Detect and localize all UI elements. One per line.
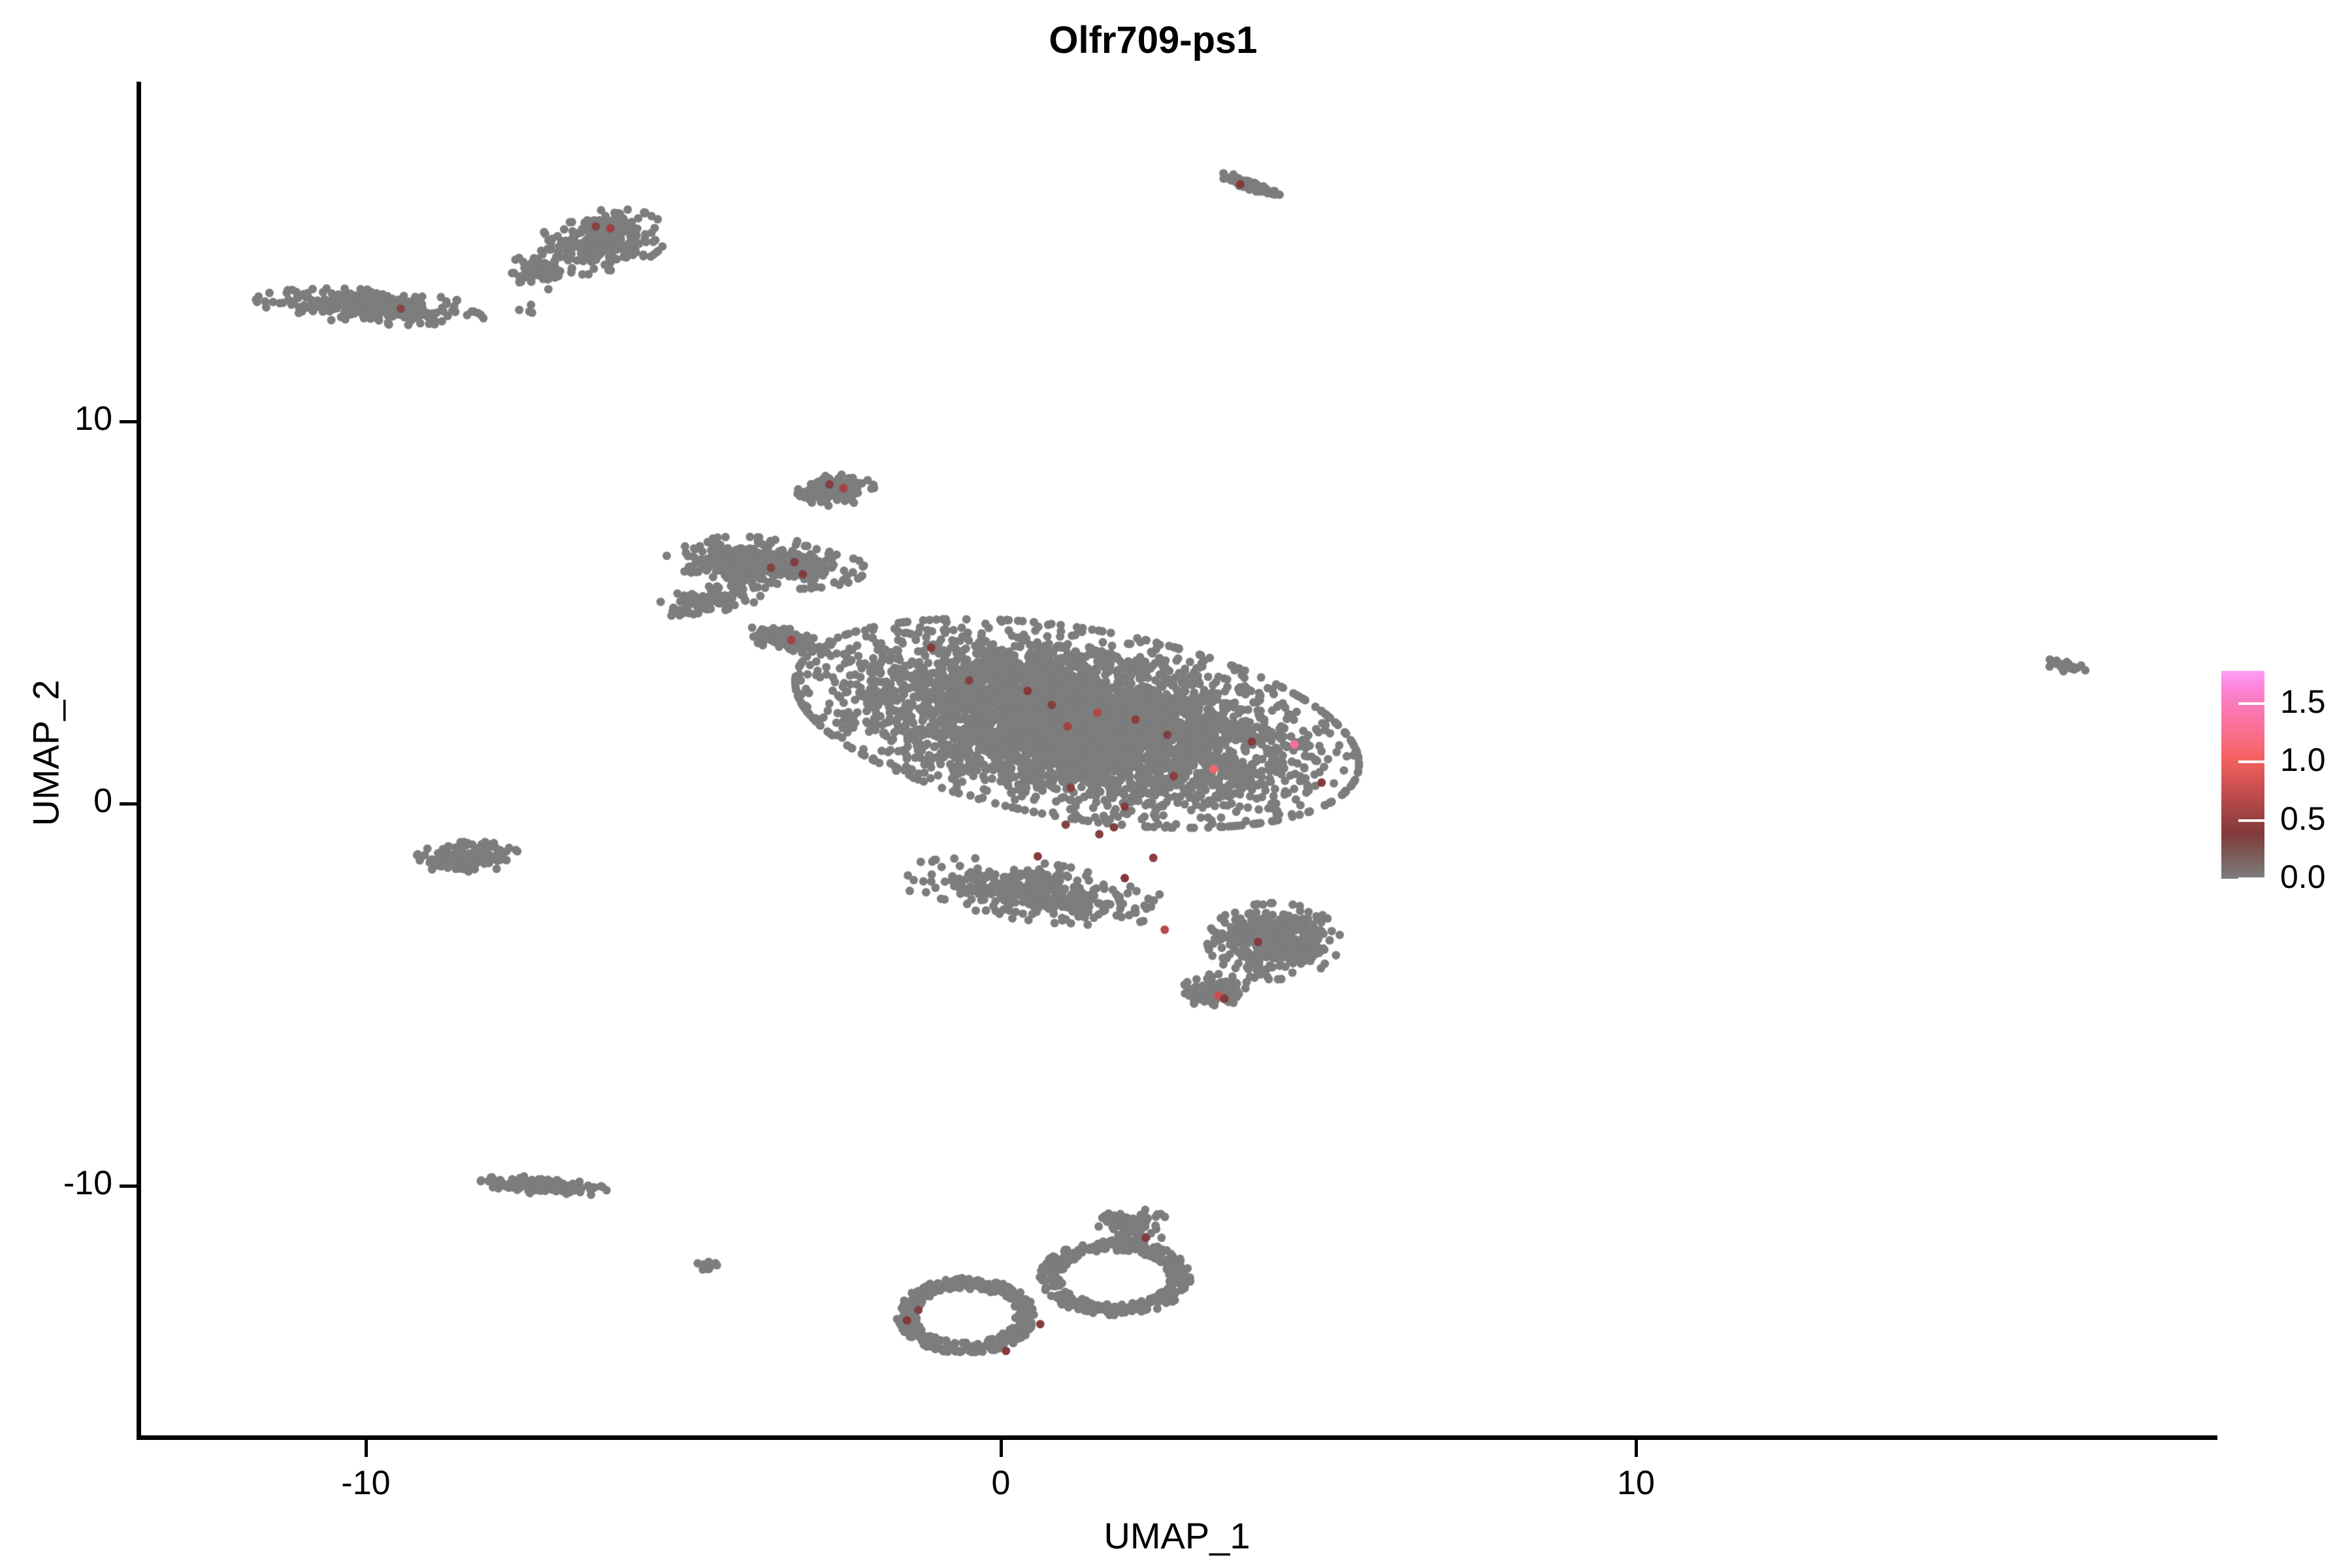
- x-tick-label: 0: [903, 1463, 1099, 1503]
- y-tick-label: -10: [0, 1164, 112, 1203]
- x-axis-title: UMAP_1: [137, 1514, 2217, 1557]
- colorbar-tick-label: 0.5: [2280, 800, 2326, 838]
- colorbar-legend: 1.51.00.50.0: [2221, 666, 2352, 902]
- x-tick-label: 10: [1538, 1463, 1734, 1503]
- y-axis-title: UMAP_2: [25, 427, 67, 1080]
- colorbar-tick-mark: [2238, 877, 2264, 880]
- y-tick-mark: [120, 802, 137, 806]
- colorbar-tick-label: 0.0: [2280, 858, 2326, 896]
- umap-feature-plot: Olfr709-ps1 100-10 -10010 UMAP_1 UMAP_2 …: [0, 0, 2352, 1568]
- scatter-plot-canvas: [139, 78, 2216, 1437]
- x-axis-line: [137, 1435, 2217, 1440]
- colorbar-tick-mark: [2238, 760, 2264, 763]
- colorbar-tick-mark: [2238, 702, 2264, 705]
- y-axis-line: [137, 82, 141, 1439]
- x-tick-label: -10: [268, 1463, 464, 1503]
- colorbar-tick-mark: [2238, 819, 2264, 822]
- colorbar-tick-label: 1.5: [2280, 683, 2326, 721]
- y-tick-mark: [120, 1184, 137, 1188]
- x-tick-mark: [1000, 1440, 1003, 1457]
- x-tick-mark: [365, 1440, 368, 1457]
- x-tick-mark: [1635, 1440, 1638, 1457]
- colorbar-tick-label: 1.0: [2280, 741, 2326, 779]
- y-tick-mark: [120, 420, 137, 423]
- page-title: Olfr709-ps1: [0, 18, 2329, 62]
